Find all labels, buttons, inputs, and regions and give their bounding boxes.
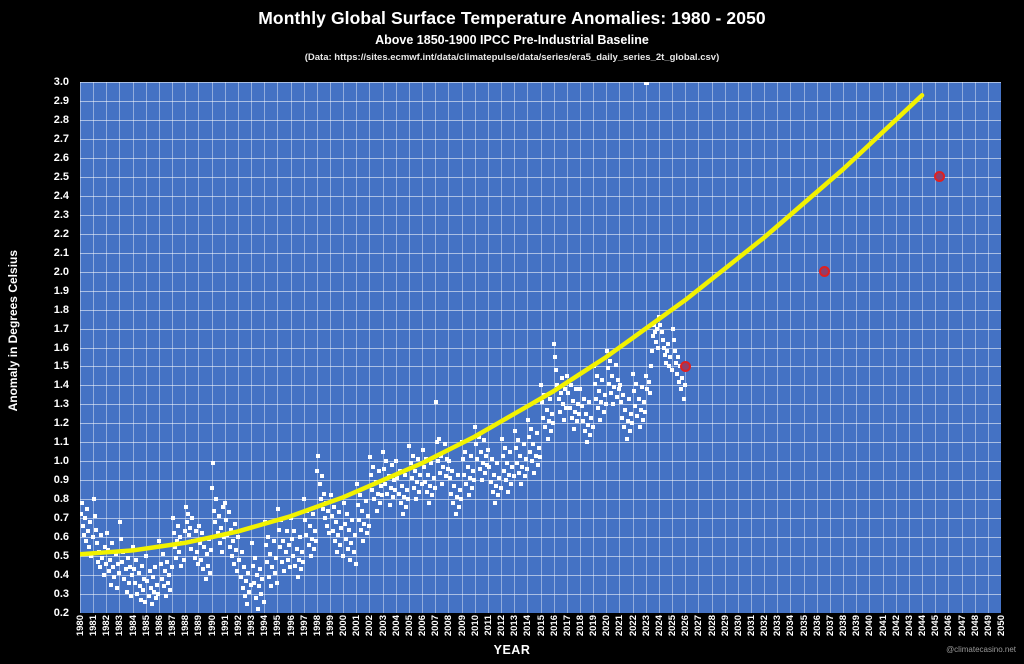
x-axis-tick-label: 2042 bbox=[891, 615, 902, 636]
y-axis-tick-label: 0.8 bbox=[54, 493, 69, 505]
threshold-crossing-marker bbox=[680, 361, 691, 372]
y-axis-tick-label: 1.4 bbox=[54, 379, 69, 391]
x-axis-tick-label: 2002 bbox=[364, 615, 375, 636]
x-axis-tick-label: 2041 bbox=[878, 615, 889, 636]
threshold-crossing-marker bbox=[934, 171, 945, 182]
x-axis-tick-label: 2043 bbox=[904, 615, 915, 636]
x-axis-tick-label: 2029 bbox=[720, 615, 731, 636]
x-axis-tick-label: 2046 bbox=[943, 615, 954, 636]
x-axis-tick-label: 1984 bbox=[128, 615, 139, 636]
x-axis-tick-label: 1982 bbox=[101, 615, 112, 636]
x-axis-tick-label: 2017 bbox=[562, 615, 573, 636]
y-axis-tick-label: 0.6 bbox=[54, 531, 69, 543]
x-axis-tick-label: 2022 bbox=[628, 615, 639, 636]
x-axis-tick-label: 2038 bbox=[838, 615, 849, 636]
y-axis-tick-label: 0.4 bbox=[54, 569, 69, 581]
y-axis-tick-label: 0.9 bbox=[54, 474, 69, 486]
y-axis-ticks: 3.02.92.82.72.62.52.42.32.22.12.01.91.81… bbox=[0, 82, 74, 613]
x-axis-tick-label: 1980 bbox=[75, 615, 86, 636]
x-axis-tick-label: 2007 bbox=[430, 615, 441, 636]
x-axis-tick-label: 2044 bbox=[917, 615, 928, 636]
x-axis-tick-label: 1991 bbox=[220, 615, 231, 636]
y-axis-tick-label: 1.3 bbox=[54, 398, 69, 410]
x-axis-tick-label: 1994 bbox=[259, 615, 270, 636]
x-axis-ticks: 1980198119821983198419851986198719881989… bbox=[80, 615, 1001, 661]
x-axis-tick-label: 1983 bbox=[114, 615, 125, 636]
x-axis-tick-label: 2014 bbox=[522, 615, 533, 636]
x-axis-tick-label: 1988 bbox=[180, 615, 191, 636]
x-axis-tick-label: 2026 bbox=[680, 615, 691, 636]
x-axis-tick-label: 2025 bbox=[667, 615, 678, 636]
y-axis-tick-label: 2.4 bbox=[54, 190, 69, 202]
y-axis-tick-label: 2.2 bbox=[54, 228, 69, 240]
y-axis-tick-label: 1.8 bbox=[54, 304, 69, 316]
y-axis-tick-label: 0.7 bbox=[54, 512, 69, 524]
y-axis-tick-label: 1.7 bbox=[54, 323, 69, 335]
x-axis-tick-label: 2015 bbox=[536, 615, 547, 636]
x-axis-tick-label: 2001 bbox=[351, 615, 362, 636]
x-axis-tick-label: 2048 bbox=[970, 615, 981, 636]
x-axis-tick-label: 1999 bbox=[325, 615, 336, 636]
x-axis-tick-label: 2039 bbox=[851, 615, 862, 636]
x-axis-tick-label: 2003 bbox=[378, 615, 389, 636]
x-axis-tick-label: 2050 bbox=[996, 615, 1007, 636]
x-axis-tick-label: 2034 bbox=[785, 615, 796, 636]
y-axis-tick-label: 3.0 bbox=[54, 76, 69, 88]
x-axis-tick-label: 2037 bbox=[825, 615, 836, 636]
y-axis-tick-label: 1.5 bbox=[54, 360, 69, 372]
y-axis-tick-label: 0.3 bbox=[54, 588, 69, 600]
y-axis-tick-label: 1.2 bbox=[54, 417, 69, 429]
x-axis-tick-label: 2004 bbox=[391, 615, 402, 636]
y-axis-tick-label: 1.6 bbox=[54, 342, 69, 354]
x-axis-tick-label: 1995 bbox=[272, 615, 283, 636]
x-axis-tick-label: 1981 bbox=[88, 615, 99, 636]
x-axis-tick-label: 1987 bbox=[167, 615, 178, 636]
y-axis-tick-label: 1.0 bbox=[54, 455, 69, 467]
y-axis-tick-label: 0.5 bbox=[54, 550, 69, 562]
x-axis-tick-label: 2020 bbox=[601, 615, 612, 636]
x-axis-tick-label: 2023 bbox=[641, 615, 652, 636]
y-axis-tick-label: 2.5 bbox=[54, 171, 69, 183]
x-axis-tick-label: 2012 bbox=[496, 615, 507, 636]
y-axis-tick-label: 1.1 bbox=[54, 436, 69, 448]
x-axis-tick-label: 2032 bbox=[759, 615, 770, 636]
x-axis-tick-label: 2008 bbox=[443, 615, 454, 636]
x-axis-tick-label: 2047 bbox=[957, 615, 968, 636]
x-axis-tick-label: 1990 bbox=[207, 615, 218, 636]
x-axis-tick-label: 1997 bbox=[299, 615, 310, 636]
x-axis-tick-label: 2027 bbox=[693, 615, 704, 636]
trend-line bbox=[80, 82, 1001, 613]
y-axis-tick-label: 2.7 bbox=[54, 133, 69, 145]
y-axis-tick-label: 2.3 bbox=[54, 209, 69, 221]
x-axis-tick-label: 2033 bbox=[772, 615, 783, 636]
x-axis-tick-label: 2031 bbox=[746, 615, 757, 636]
x-axis-tick-label: 1998 bbox=[312, 615, 323, 636]
chart-source-note: (Data: https://sites.ecmwf.int/data/clim… bbox=[0, 52, 1024, 63]
chart-subtitle: Above 1850-1900 IPCC Pre-Industrial Base… bbox=[0, 33, 1024, 47]
chart-title: Monthly Global Surface Temperature Anoma… bbox=[0, 8, 1024, 29]
x-axis-tick-label: 2009 bbox=[457, 615, 468, 636]
x-axis-tick-label: 2018 bbox=[575, 615, 586, 636]
y-axis-tick-label: 1.9 bbox=[54, 285, 69, 297]
x-axis-tick-label: 2040 bbox=[864, 615, 875, 636]
y-axis-tick-label: 2.6 bbox=[54, 152, 69, 164]
x-axis-tick-label: 2036 bbox=[812, 615, 823, 636]
x-axis-tick-label: 2035 bbox=[799, 615, 810, 636]
x-axis-tick-label: 1992 bbox=[233, 615, 244, 636]
x-axis-tick-label: 2011 bbox=[483, 615, 494, 636]
x-axis-tick-label: 2010 bbox=[470, 615, 481, 636]
x-axis-tick-label: 2000 bbox=[338, 615, 349, 636]
x-axis-tick-label: 2045 bbox=[930, 615, 941, 636]
x-axis-tick-label: 1989 bbox=[193, 615, 204, 636]
plot-area bbox=[80, 82, 1001, 613]
x-axis-tick-label: 2021 bbox=[614, 615, 625, 636]
y-axis-tick-label: 2.0 bbox=[54, 266, 69, 278]
x-axis-tick-label: 2030 bbox=[733, 615, 744, 636]
x-axis-tick-label: 2013 bbox=[509, 615, 520, 636]
y-axis-tick-label: 0.2 bbox=[54, 607, 69, 619]
x-axis-tick-label: 2028 bbox=[707, 615, 718, 636]
x-axis-tick-label: 1993 bbox=[246, 615, 257, 636]
y-axis-tick-label: 2.1 bbox=[54, 247, 69, 259]
x-axis-tick-label: 2024 bbox=[654, 615, 665, 636]
x-axis-tick-label: 2006 bbox=[417, 615, 428, 636]
x-axis-tick-label: 2019 bbox=[588, 615, 599, 636]
y-axis-tick-label: 2.9 bbox=[54, 95, 69, 107]
x-axis-tick-label: 2016 bbox=[549, 615, 560, 636]
chart-container: Monthly Global Surface Temperature Anoma… bbox=[0, 0, 1024, 664]
x-axis-tick-label: 2005 bbox=[404, 615, 415, 636]
x-axis-tick-label: 1986 bbox=[154, 615, 165, 636]
y-axis-tick-label: 2.8 bbox=[54, 114, 69, 126]
x-axis-tick-label: 1985 bbox=[141, 615, 152, 636]
x-axis-tick-label: 2049 bbox=[983, 615, 994, 636]
x-axis-tick-label: 1996 bbox=[286, 615, 297, 636]
